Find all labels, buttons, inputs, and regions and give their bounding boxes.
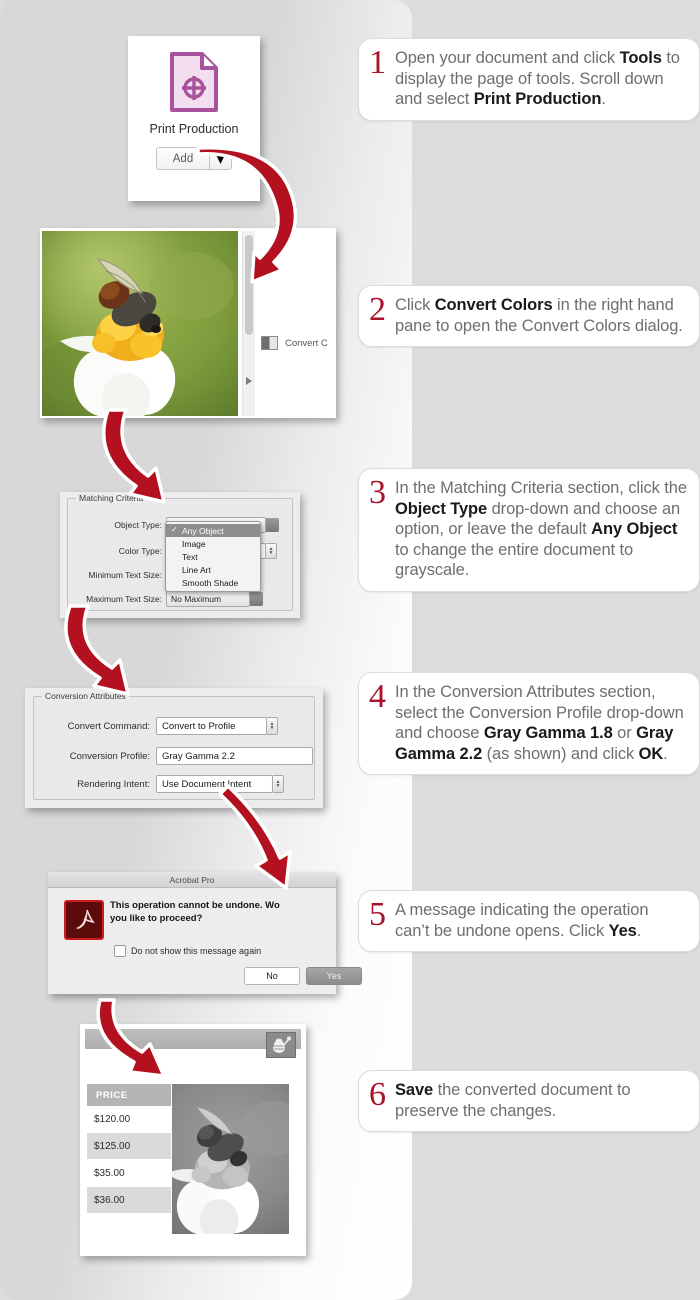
step-text: In the Conversion Attributes section, se… xyxy=(395,682,687,764)
beehive-logo-icon xyxy=(266,1032,296,1058)
convert-command-stepper[interactable]: ▲▼ xyxy=(267,717,278,735)
convert-colors-label: Convert C xyxy=(285,338,328,349)
matching-criteria-group: Matching Criteria Object Type: Color Typ… xyxy=(67,498,293,611)
yes-button[interactable]: Yes xyxy=(306,967,362,985)
maximum-text-size-caret-icon[interactable] xyxy=(250,592,263,606)
menu-item-smooth-shade[interactable]: Smooth Shade xyxy=(166,576,260,589)
table-row: $120.00 xyxy=(87,1106,171,1133)
conversion-attributes-title: Conversion Attributes xyxy=(42,691,129,701)
step-text: Open your document and click Tools to di… xyxy=(395,48,687,110)
alert-message: This operation cannot be undone. Wo you … xyxy=(110,899,328,925)
color-type-label: Color Type: xyxy=(68,546,162,556)
step-number: 6 xyxy=(369,1080,395,1110)
bee-photo xyxy=(42,231,238,416)
table-row: $36.00 xyxy=(87,1187,171,1214)
rendering-intent-dropdown[interactable]: Use Document Intent xyxy=(156,775,273,793)
vertical-scrollbar[interactable] xyxy=(242,231,255,416)
menu-item-line-art[interactable]: Line Art xyxy=(166,563,260,576)
object-type-open-menu[interactable]: Any Object Image Text Line Art Smooth Sh… xyxy=(165,521,261,592)
no-button[interactable]: No xyxy=(244,967,300,985)
do-not-show-checkbox[interactable] xyxy=(114,945,126,957)
screenshot-matching-criteria-dialog: Matching Criteria Object Type: Color Typ… xyxy=(60,492,300,618)
convert-colors-icon xyxy=(261,336,278,350)
color-type-stepper[interactable]: ▲▼ xyxy=(266,543,277,559)
print-production-icon xyxy=(168,51,220,113)
screenshot-conversion-attributes-dialog: Conversion Attributes Convert Command: C… xyxy=(25,688,323,808)
do-not-show-label: Do not show this message again xyxy=(131,946,261,956)
matching-criteria-title: Matching Criteria xyxy=(76,493,146,503)
callout-step-6: 6 Save the converted document to preserv… xyxy=(358,1070,700,1132)
acrobat-logo-icon xyxy=(64,900,104,940)
callout-step-4: 4 In the Conversion Attributes section, … xyxy=(358,672,700,775)
callout-step-2: 2 Click Convert Colors in the right hand… xyxy=(358,285,700,347)
rendering-intent-stepper[interactable]: ▲▼ xyxy=(273,775,284,793)
screenshot-grayscale-document: PRICE $120.00 $125.00 $35.00 $36.00 xyxy=(80,1024,306,1256)
conversion-profile-dropdown[interactable]: Gray Gamma 2.2 xyxy=(156,747,313,765)
add-tool-control[interactable]: Add ▾ xyxy=(156,147,232,170)
tool-tile-label: Print Production xyxy=(150,122,239,136)
screenshot-print-production-tile: Print Production Add ▾ xyxy=(128,36,260,201)
menu-item-text[interactable]: Text xyxy=(166,550,260,563)
rendering-intent-label: Rendering Intent: xyxy=(34,779,150,790)
menu-item-image[interactable]: Image xyxy=(166,537,260,550)
callout-step-1: 1 Open your document and click Tools to … xyxy=(358,38,700,121)
step-number: 2 xyxy=(369,295,395,325)
convert-command-dropdown[interactable]: Convert to Profile xyxy=(156,717,267,735)
menu-item-any-object[interactable]: Any Object xyxy=(166,524,260,537)
step-number: 1 xyxy=(369,48,395,78)
do-not-show-checkbox-row[interactable]: Do not show this message again xyxy=(114,945,261,957)
dialog-titlebar: Acrobat Pro xyxy=(48,872,336,888)
price-table: PRICE $120.00 $125.00 $35.00 $36.00 xyxy=(87,1084,171,1214)
convert-colors-pane-item[interactable]: Convert C xyxy=(261,336,328,350)
price-column-header: PRICE xyxy=(87,1084,171,1106)
callout-step-3: 3 In the Matching Criteria section, clic… xyxy=(358,468,700,592)
page-background: Print Production Add ▾ xyxy=(0,0,700,1300)
add-button[interactable]: Add xyxy=(156,147,209,170)
callout-step-5: 5 A message indicating the operation can… xyxy=(358,890,700,952)
conversion-profile-label: Conversion Profile: xyxy=(34,751,150,762)
minimum-text-size-label: Minimum Text Size: xyxy=(68,570,162,580)
chevron-down-icon[interactable]: ▾ xyxy=(209,147,232,170)
step-text: Click Convert Colors in the right hand p… xyxy=(395,295,687,336)
step-text: In the Matching Criteria section, click … xyxy=(395,478,687,581)
alert-message-line1: This operation cannot be undone. Wo xyxy=(110,900,280,911)
step-text: Save the converted document to preserve … xyxy=(395,1080,687,1121)
maximum-text-size-label: Maximum Text Size: xyxy=(68,594,162,604)
alert-message-line2: you like to proceed? xyxy=(110,913,202,924)
step-text: A message indicating the operation can’t… xyxy=(395,900,687,941)
convert-command-label: Convert Command: xyxy=(34,721,150,732)
maximum-text-size-dropdown[interactable]: No Maximum xyxy=(166,591,250,607)
step-number: 5 xyxy=(369,900,395,930)
step-number: 4 xyxy=(369,682,395,712)
screenshot-document-viewer: Convert C xyxy=(40,228,336,418)
step-number: 3 xyxy=(369,478,395,508)
pane-expand-arrow-icon[interactable] xyxy=(246,377,252,385)
object-type-label: Object Type: xyxy=(68,520,162,530)
object-type-caret-icon[interactable] xyxy=(266,518,279,532)
grayscale-bee-photo xyxy=(172,1084,289,1234)
table-row: $125.00 xyxy=(87,1133,171,1160)
table-row: $35.00 xyxy=(87,1160,171,1187)
tools-right-pane: Convert C xyxy=(255,231,334,415)
scrollbar-thumb[interactable] xyxy=(245,235,253,335)
screenshot-acrobat-alert-dialog: Acrobat Pro This operation cannot be und… xyxy=(48,872,336,994)
conversion-attributes-group: Conversion Attributes Convert Command: C… xyxy=(33,696,315,800)
